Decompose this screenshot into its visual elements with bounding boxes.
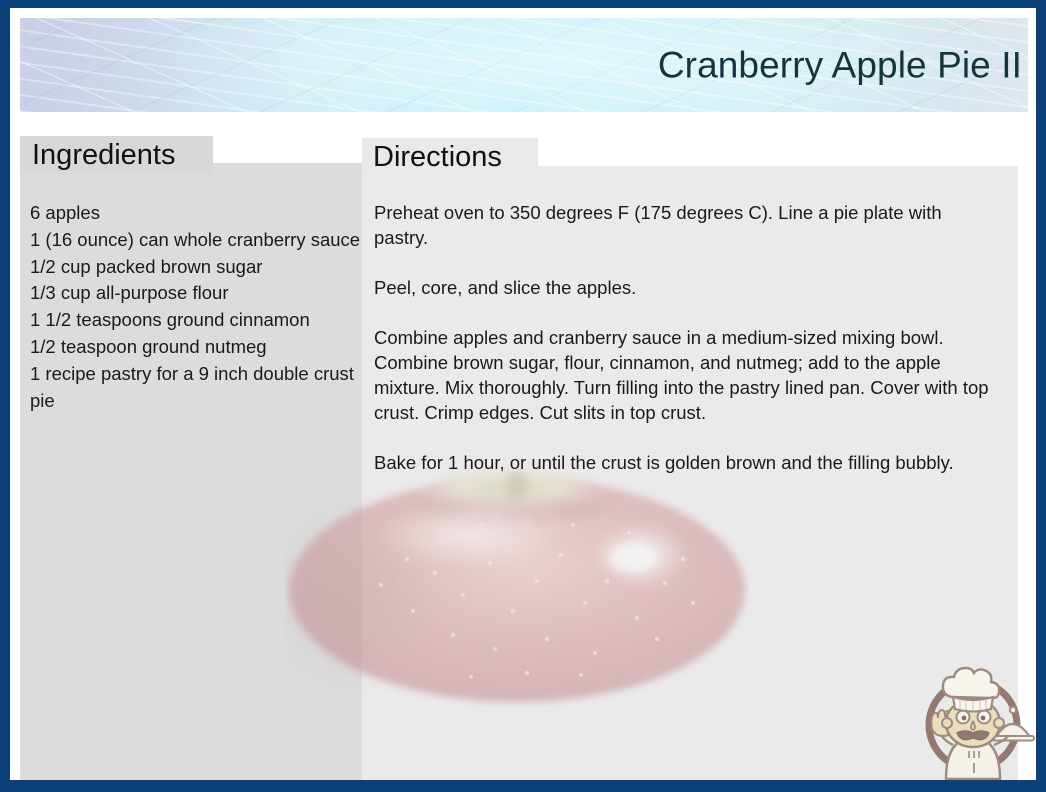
list-item: 1 1/2 teaspoons ground cinnamon xyxy=(30,307,366,334)
header-banner: Cranberry Apple Pie II xyxy=(20,18,1028,112)
list-item: 1/2 teaspoon ground nutmeg xyxy=(30,334,366,361)
ingredients-heading-tab: Ingredients xyxy=(20,136,213,174)
list-item: 1/3 cup all-purpose flour xyxy=(30,280,366,307)
direction-step: Preheat oven to 350 degrees F (175 degre… xyxy=(374,200,999,250)
directions-heading-tab: Directions xyxy=(362,138,538,177)
direction-step: Combine apples and cranberry sauce in a … xyxy=(374,325,999,425)
chef-mustache xyxy=(957,731,989,740)
chef-mascot-logo xyxy=(908,653,1036,780)
directions-body: Preheat oven to 350 degrees F (175 degre… xyxy=(374,200,999,475)
direction-step: Bake for 1 hour, or until the crust is g… xyxy=(374,450,999,475)
list-item: 1 (16 ounce) can whole cranberry sauce xyxy=(30,227,366,254)
ingredients-list: 6 apples 1 (16 ounce) can whole cranberr… xyxy=(30,200,366,414)
card-inner-frame: Cranberry Apple Pie II Ingredients 6 app… xyxy=(10,8,1036,780)
list-item: 1 recipe pastry for a 9 inch double crus… xyxy=(30,361,366,415)
list-item: 1/2 cup packed brown sugar xyxy=(30,254,366,281)
ingredients-heading-label: Ingredients xyxy=(32,141,176,170)
page-title: Cranberry Apple Pie II xyxy=(658,47,1022,84)
recipe-card: Cranberry Apple Pie II Ingredients 6 app… xyxy=(0,0,1046,792)
direction-step: Peel, core, and slice the apples. xyxy=(374,275,999,300)
directions-heading-label: Directions xyxy=(373,143,502,172)
chef-hat-icon xyxy=(943,668,999,712)
list-item: 6 apples xyxy=(30,200,366,227)
